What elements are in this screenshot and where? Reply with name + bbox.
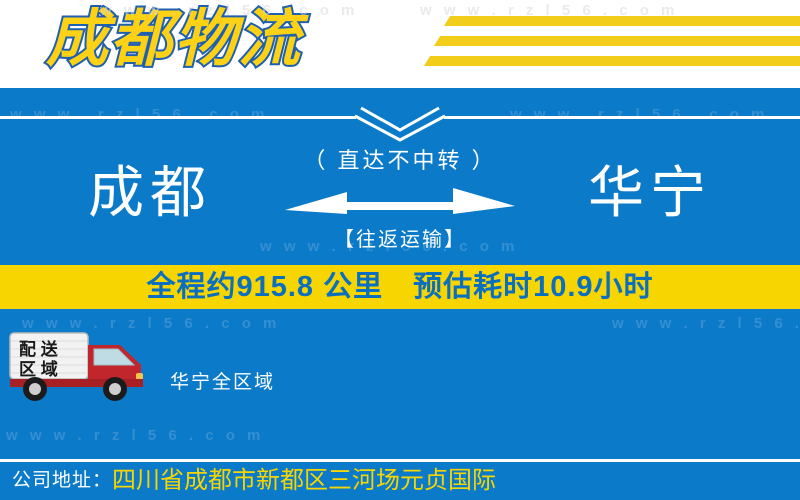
svg-text:区 域: 区 域 <box>19 359 58 379</box>
stripe-3 <box>424 56 800 66</box>
delivery-panel: w w w . r z l 5 6 . c o m w w w . r z l … <box>0 309 800 459</box>
decorative-stripes <box>425 8 800 78</box>
address-value: 四川省成都市新都区三河场元贞国际 <box>112 467 496 495</box>
watermark: w w w . r z l 5 6 . c o m <box>10 106 268 124</box>
stripe-2 <box>434 36 800 46</box>
chevron-down-icon <box>355 106 445 142</box>
divider-line-right <box>444 116 800 119</box>
direct-transit-tag: （ 直达不中转 ） <box>270 148 530 174</box>
coverage-text: 华宁全区域 <box>170 371 275 395</box>
watermark: w w w . r z l 5 6 . c o m <box>6 427 264 445</box>
metrics-bar: 全程约915.8 公里 预估耗时10.9小时 <box>0 265 800 309</box>
route-middle: （ 直达不中转 ） 【往返运输】 <box>270 144 530 264</box>
watermark: w w w . r z l 5 6 . c o m <box>612 315 800 333</box>
watermark: w w w . r z l 5 6 . c o m <box>510 106 768 124</box>
delivery-truck-icon: 配 送 区 域 <box>8 331 158 403</box>
svg-text:配 送: 配 送 <box>19 339 59 359</box>
origin-city: 成都 <box>20 160 280 226</box>
distance-text: 全程约915.8 公里 <box>146 270 383 304</box>
route-row: 成都 （ 直达不中转 ） 【往返运输】 华宁 <box>0 144 800 264</box>
poster-header: 成都物流 w w w . r z l 5 6 . c o m w w w . r… <box>0 0 800 88</box>
page-title: 成都物流 <box>46 4 302 76</box>
double-headed-arrow-icon <box>285 184 515 226</box>
stripe-1 <box>444 16 800 26</box>
address-label: 公司地址： <box>0 469 112 493</box>
route-panel: w w w . r z l 5 6 . c o m w w w . r z l … <box>0 88 800 265</box>
destination-city: 华宁 <box>520 160 780 226</box>
logistics-poster: 成都物流 w w w . r z l 5 6 . c o m w w w . r… <box>0 0 800 500</box>
duration-text: 预估耗时10.9小时 <box>413 270 653 304</box>
address-bar: 公司地址： 四川省成都市新都区三河场元贞国际 <box>0 462 800 500</box>
roundtrip-tag: 【往返运输】 <box>270 228 530 252</box>
divider-line-left <box>0 116 356 119</box>
